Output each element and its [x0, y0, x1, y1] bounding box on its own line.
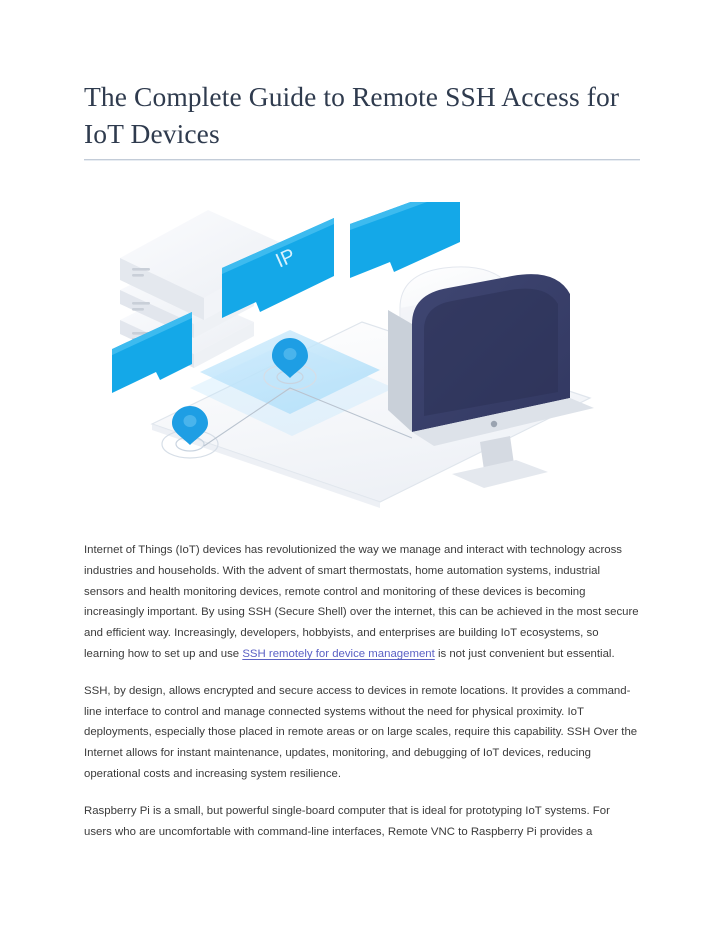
title-block: The Complete Guide to Remote SSH Access … — [84, 78, 642, 161]
paragraph-3: Raspberry Pi is a small, but powerful si… — [84, 801, 640, 843]
inline-link-ssh-remote-device-management[interactable]: SSH remotely for device management — [242, 648, 434, 660]
paragraph-2: SSH, by design, allows encrypted and sec… — [84, 681, 640, 785]
speech-bubble-right — [350, 202, 460, 278]
page-title: The Complete Guide to Remote SSH Access … — [84, 78, 642, 152]
paragraph-1-text-after-link: is not just convenient but essential. — [435, 648, 615, 660]
monitor-indicator-dot — [491, 421, 497, 427]
hero-illustration: IP — [112, 202, 624, 512]
document-page: The Complete Guide to Remote SSH Access … — [0, 0, 720, 931]
paragraph-1: Internet of Things (IoT) devices has rev… — [84, 540, 640, 665]
title-divider — [84, 159, 640, 161]
monitor-stand-base — [452, 460, 548, 488]
article-body: Internet of Things (IoT) devices has rev… — [84, 540, 640, 842]
paragraph-1-text-before-link: Internet of Things (IoT) devices has rev… — [84, 544, 639, 660]
